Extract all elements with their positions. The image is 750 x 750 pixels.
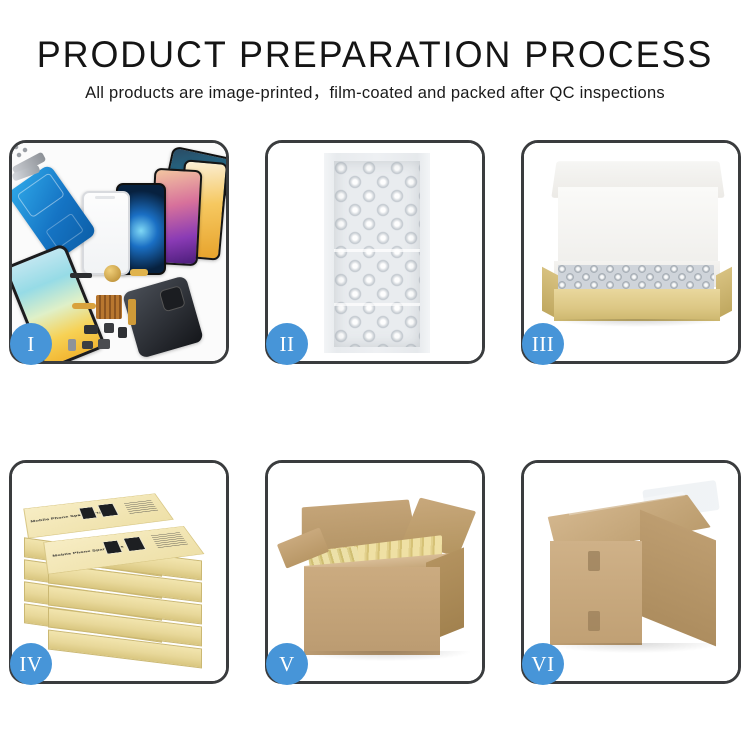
bubble-wrap-pouch <box>324 153 430 353</box>
carton-right-face <box>640 510 716 647</box>
box-thumbnail-2a <box>102 540 123 554</box>
step-panel-3: III <box>521 140 741 364</box>
box-front-face <box>554 289 720 321</box>
product-preparation-infographic: PRODUCT PREPARATION PROCESS All products… <box>0 0 750 750</box>
small-part-5 <box>82 341 93 349</box>
speaker-part-icon <box>104 265 121 282</box>
step-badge-6: VI <box>522 643 564 685</box>
flex-cable-1 <box>72 303 96 309</box>
page-subtitle: All products are image-printed，film-coat… <box>0 83 750 103</box>
box-spec-lines-1 <box>123 499 158 514</box>
step-panel-6: VI <box>521 460 741 684</box>
pouch-seam-bottom <box>334 303 420 306</box>
step-badge-4: IV <box>10 643 52 685</box>
carton-shadow-sealed <box>548 643 720 653</box>
step-badge-2: II <box>266 323 308 365</box>
box-thumbnail-2b <box>123 536 147 551</box>
process-steps-grid: I II <box>9 140 741 684</box>
screws-group <box>12 143 32 159</box>
step-badge-3: III <box>522 323 564 365</box>
step-badge-5: V <box>266 643 308 685</box>
box-thumbnail-1a <box>78 507 97 520</box>
step-panel-5: V <box>265 460 485 684</box>
part-strip-2 <box>130 269 148 276</box>
box-shadow <box>550 319 724 327</box>
carton-front-face <box>304 567 440 655</box>
box-thumbnail-1b <box>97 503 119 517</box>
box-spec-lines-2 <box>151 532 189 548</box>
small-part-2 <box>104 323 114 333</box>
bubble-wrapped-contents <box>558 265 714 291</box>
page-title: PRODUCT PREPARATION PROCESS <box>11 34 739 76</box>
step-badge-1: I <box>10 323 52 365</box>
part-strip-1 <box>70 273 92 278</box>
carton-seam-upper <box>588 551 600 571</box>
pouch-seam-top <box>334 249 420 252</box>
step-panel-4: Mobile Phone Spare Parts Mobile Phone Sp… <box>9 460 229 684</box>
header: PRODUCT PREPARATION PROCESS All products… <box>0 34 750 103</box>
box-lid-panel <box>558 187 718 265</box>
small-part-1 <box>84 325 98 334</box>
carton-shadow <box>302 651 470 661</box>
step-panel-2: II <box>265 140 485 364</box>
small-part-3 <box>118 327 127 338</box>
flex-cable-2 <box>128 299 136 325</box>
chip-grid-part <box>96 295 122 319</box>
bubble-texture <box>334 161 420 347</box>
step-panel-1: I <box>9 140 229 364</box>
carton-seam-lower <box>588 611 600 631</box>
small-part-4 <box>68 339 76 351</box>
small-part-6 <box>98 339 110 349</box>
